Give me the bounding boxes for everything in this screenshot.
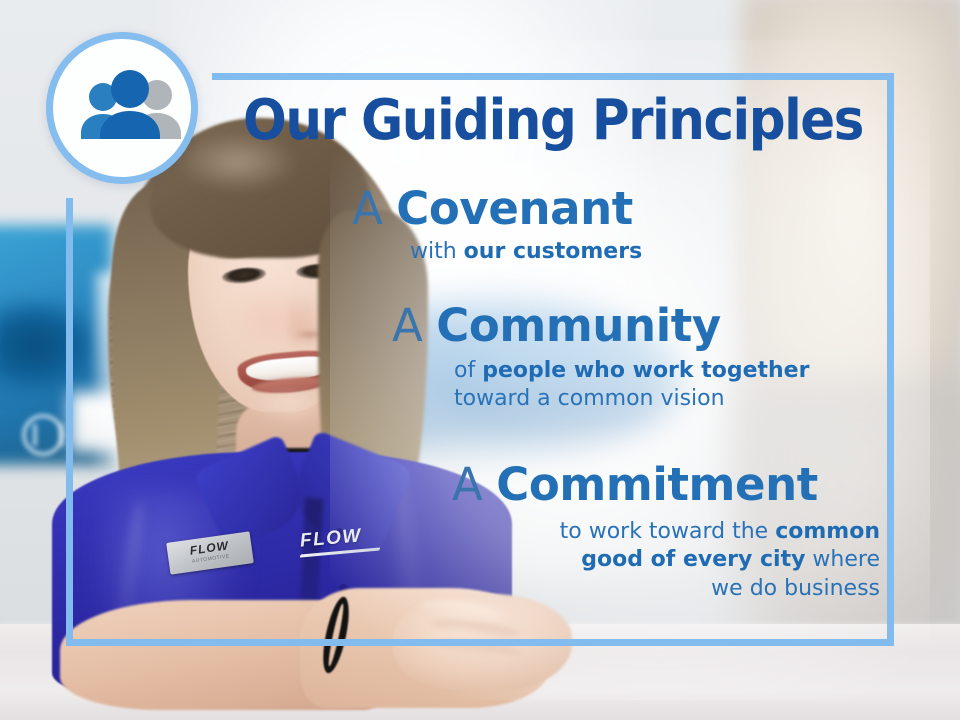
- principle-line: of people who work together: [454, 357, 892, 386]
- principle-line: toward a common vision: [454, 385, 892, 414]
- guiding-principles-graphic: FLOW AUTOMOTIVE FLOW: [0, 0, 960, 720]
- people-group-icon: [75, 69, 185, 153]
- principle-line: we do business: [452, 575, 880, 604]
- principle-headline: A Commitment: [452, 462, 892, 508]
- principle-line: good of every city where: [452, 546, 880, 575]
- principle-headline: A Covenant: [352, 186, 892, 232]
- principle-headline: A Community: [392, 303, 892, 349]
- principle-block-commitment: A Commitment to work toward the common g…: [452, 462, 892, 604]
- principle-line: with our customers: [410, 238, 892, 267]
- principle-keyword: Commitment: [496, 458, 818, 511]
- principle-block-community: A Community of people who work together …: [392, 303, 892, 414]
- principle-article: A: [452, 458, 496, 511]
- principle-article: A: [352, 182, 396, 235]
- principle-block-covenant: A Covenant with our customers: [352, 186, 892, 266]
- principle-article: A: [392, 299, 436, 352]
- principle-keyword: Covenant: [396, 182, 633, 235]
- principle-description: of people who work together toward a com…: [392, 349, 892, 414]
- principle-description: with our customers: [352, 232, 892, 267]
- principle-keyword: Community: [436, 299, 720, 352]
- principle-line: to work toward the common: [452, 518, 880, 547]
- principle-description: to work toward the common good of every …: [452, 508, 892, 604]
- people-group-icon-badge: [46, 32, 198, 184]
- frame-left-edge: [66, 198, 73, 646]
- page-title: Our Guiding Principles: [239, 93, 866, 149]
